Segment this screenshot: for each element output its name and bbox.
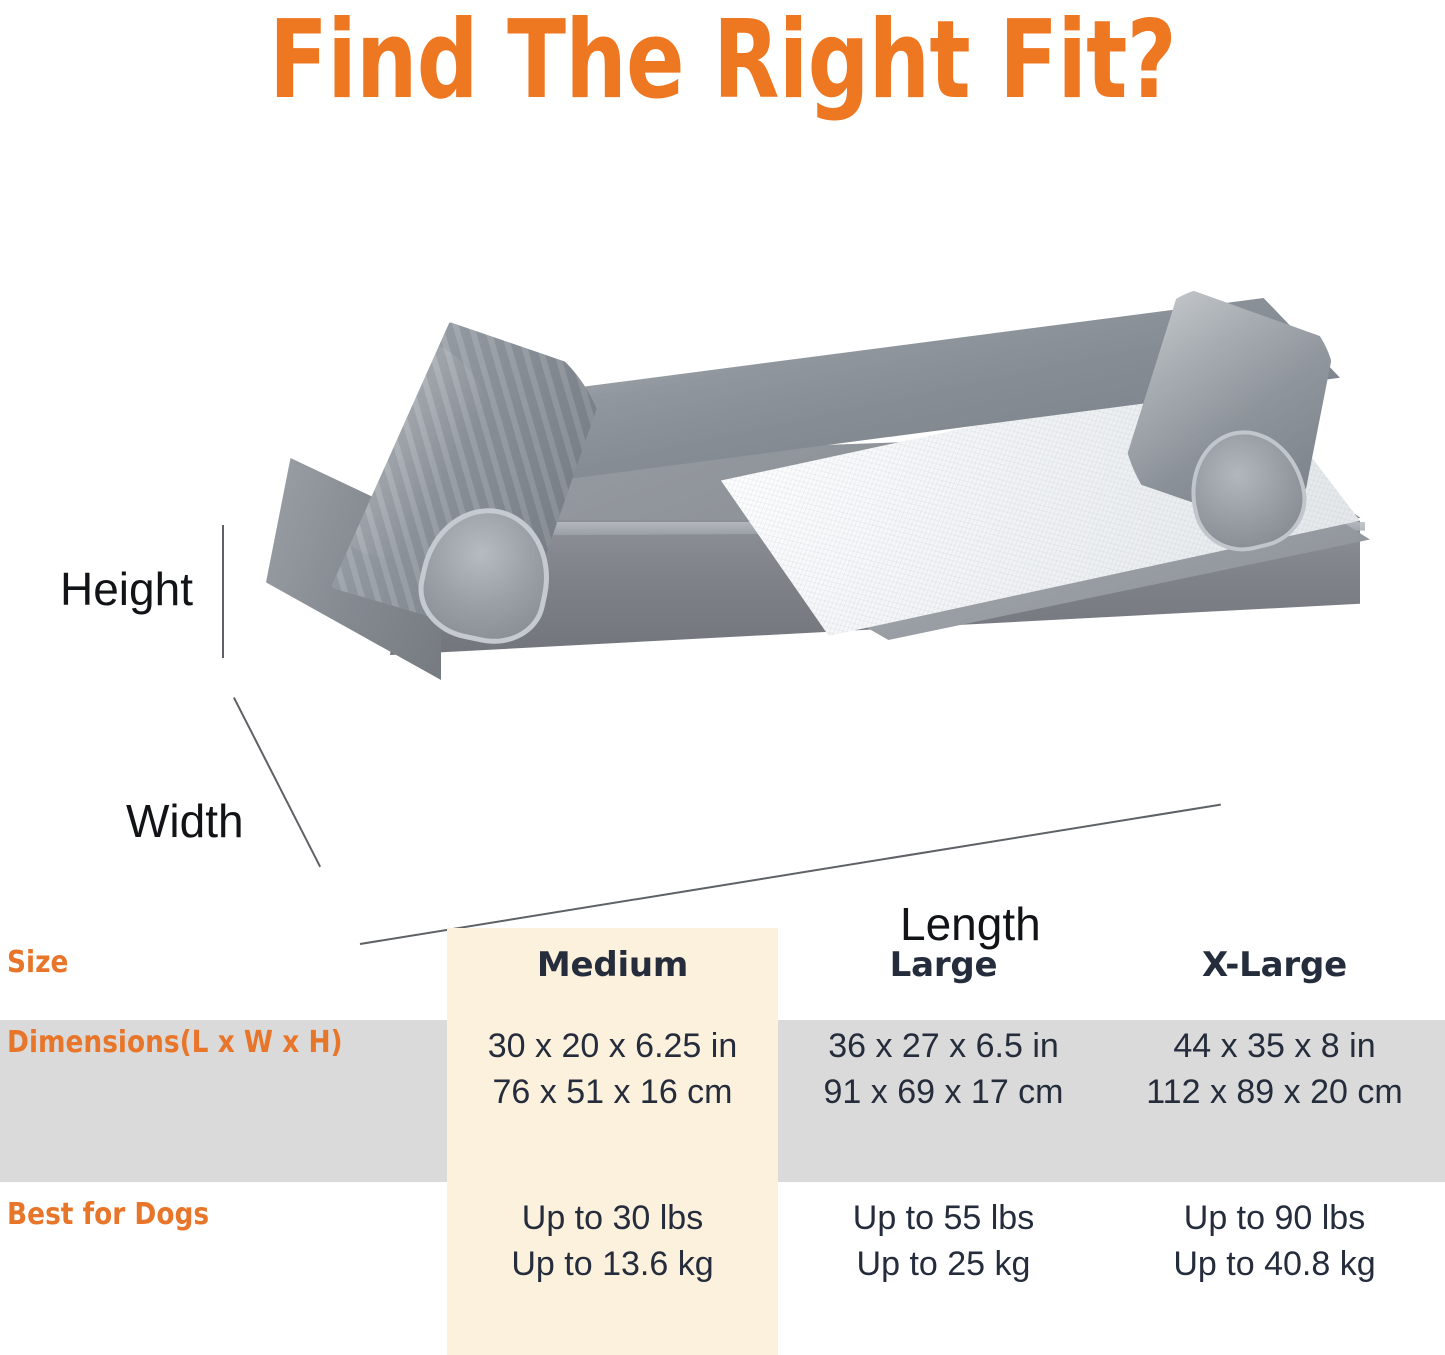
dimensions-cell-large: 36 x 27 x 6.5 in 91 x 69 x 17 cm [778, 1023, 1109, 1115]
column-header-large: Large [778, 943, 1109, 987]
table-row-size: Size Medium Large X-Large [0, 943, 1445, 1003]
weight-medium-kg: Up to 13.6 kg [447, 1241, 778, 1287]
dog-bed-graphic [250, 280, 1360, 750]
weight-x-large-kg: Up to 40.8 kg [1109, 1241, 1440, 1287]
dimensions-large-inches: 36 x 27 x 6.5 in [778, 1023, 1109, 1069]
dimensions-medium-cm: 76 x 51 x 16 cm [447, 1069, 778, 1115]
weight-cell-medium: Up to 30 lbs Up to 13.6 kg [447, 1195, 778, 1287]
weight-cell-x-large: Up to 90 lbs Up to 40.8 kg [1109, 1195, 1440, 1287]
height-guide-line [222, 525, 224, 658]
weight-medium-lbs: Up to 30 lbs [447, 1195, 778, 1241]
column-header-x-large: X-Large [1109, 943, 1440, 987]
dimensions-cell-medium: 30 x 20 x 6.25 in 76 x 51 x 16 cm [447, 1023, 778, 1115]
table-row-best-for-dogs: Best for Dogs Up to 30 lbs Up to 13.6 kg… [0, 1195, 1445, 1325]
weight-x-large-lbs: Up to 90 lbs [1109, 1195, 1440, 1241]
width-label: Width [126, 794, 244, 848]
row-label-dimensions: Dimensions(L x W x H) [0, 1023, 393, 1063]
dimensions-medium-inches: 30 x 20 x 6.25 in [447, 1023, 778, 1069]
dimensions-x-large-inches: 44 x 35 x 8 in [1109, 1023, 1440, 1069]
weight-large-lbs: Up to 55 lbs [778, 1195, 1109, 1241]
size-chart-table: Size Medium Large X-Large Dimensions(L x… [0, 905, 1445, 1355]
height-label: Height [60, 562, 193, 616]
product-illustration: Height Width Length [0, 150, 1445, 910]
column-header-medium: Medium [447, 943, 778, 987]
weight-cell-large: Up to 55 lbs Up to 25 kg [778, 1195, 1109, 1287]
row-label-best-for-dogs: Best for Dogs [0, 1195, 393, 1235]
dimensions-x-large-cm: 112 x 89 x 20 cm [1109, 1069, 1440, 1115]
weight-large-kg: Up to 25 kg [778, 1241, 1109, 1287]
dimensions-large-cm: 91 x 69 x 17 cm [778, 1069, 1109, 1115]
page-title: Find The Right Fit? [145, 2, 1301, 120]
dimensions-cell-x-large: 44 x 35 x 8 in 112 x 89 x 20 cm [1109, 1023, 1440, 1115]
row-label-size: Size [0, 943, 393, 983]
table-row-dimensions: Dimensions(L x W x H) 30 x 20 x 6.25 in … [0, 1023, 1445, 1153]
